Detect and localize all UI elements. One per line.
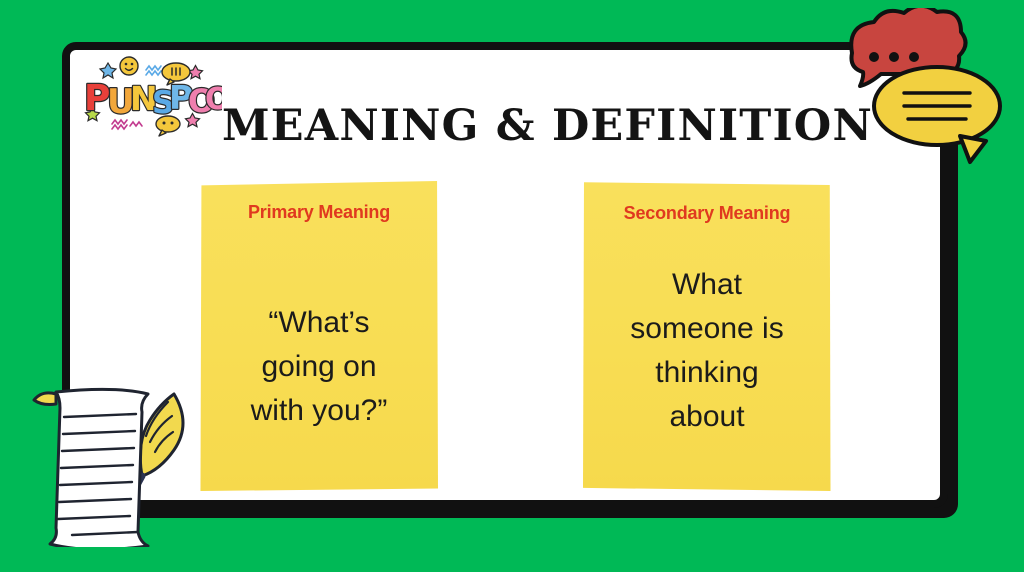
- svg-text:O: O: [205, 82, 222, 117]
- card-secondary-heading: Secondary Meaning: [583, 203, 831, 224]
- bubble-dot: [869, 52, 879, 62]
- bubble-dot: [889, 52, 899, 62]
- card-primary-heading: Primary Meaning: [200, 202, 438, 223]
- card-secondary-line: thinking: [583, 351, 831, 395]
- scroll-quill-artwork: [22, 362, 194, 547]
- speech-bubbles-artwork: [812, 8, 1024, 173]
- card-primary-line: going on: [200, 345, 438, 389]
- card-primary-line: with you?”: [200, 389, 438, 433]
- card-secondary-line: about: [583, 395, 831, 439]
- card-secondary-line: What: [583, 263, 831, 307]
- card-secondary-meaning[interactable]: Secondary Meaning What someone is thinki…: [583, 181, 831, 491]
- page-title: MEANING & DEFINITION: [222, 100, 822, 152]
- slide-canvas: P U N S P O O MEANING & DEFINITION: [0, 0, 1024, 572]
- bubble-dot: [909, 52, 919, 62]
- scroll-paper-icon: [34, 389, 148, 547]
- text-bubble-icon: [874, 67, 1000, 162]
- card-secondary-body: What someone is thinking about: [583, 263, 831, 439]
- card-primary-line: “What’s: [200, 301, 438, 345]
- speech-bubbles-decoration: [812, 8, 1024, 173]
- card-secondary-line: someone is: [583, 307, 831, 351]
- card-primary-meaning[interactable]: Primary Meaning “What’s going on with yo…: [200, 181, 438, 491]
- card-primary-body: “What’s going on with you?”: [200, 301, 438, 433]
- scroll-and-quill-decoration: [22, 362, 194, 547]
- logo-artwork: P U N S P O O: [72, 52, 222, 142]
- punspoo-logo[interactable]: P U N S P O O: [72, 52, 222, 142]
